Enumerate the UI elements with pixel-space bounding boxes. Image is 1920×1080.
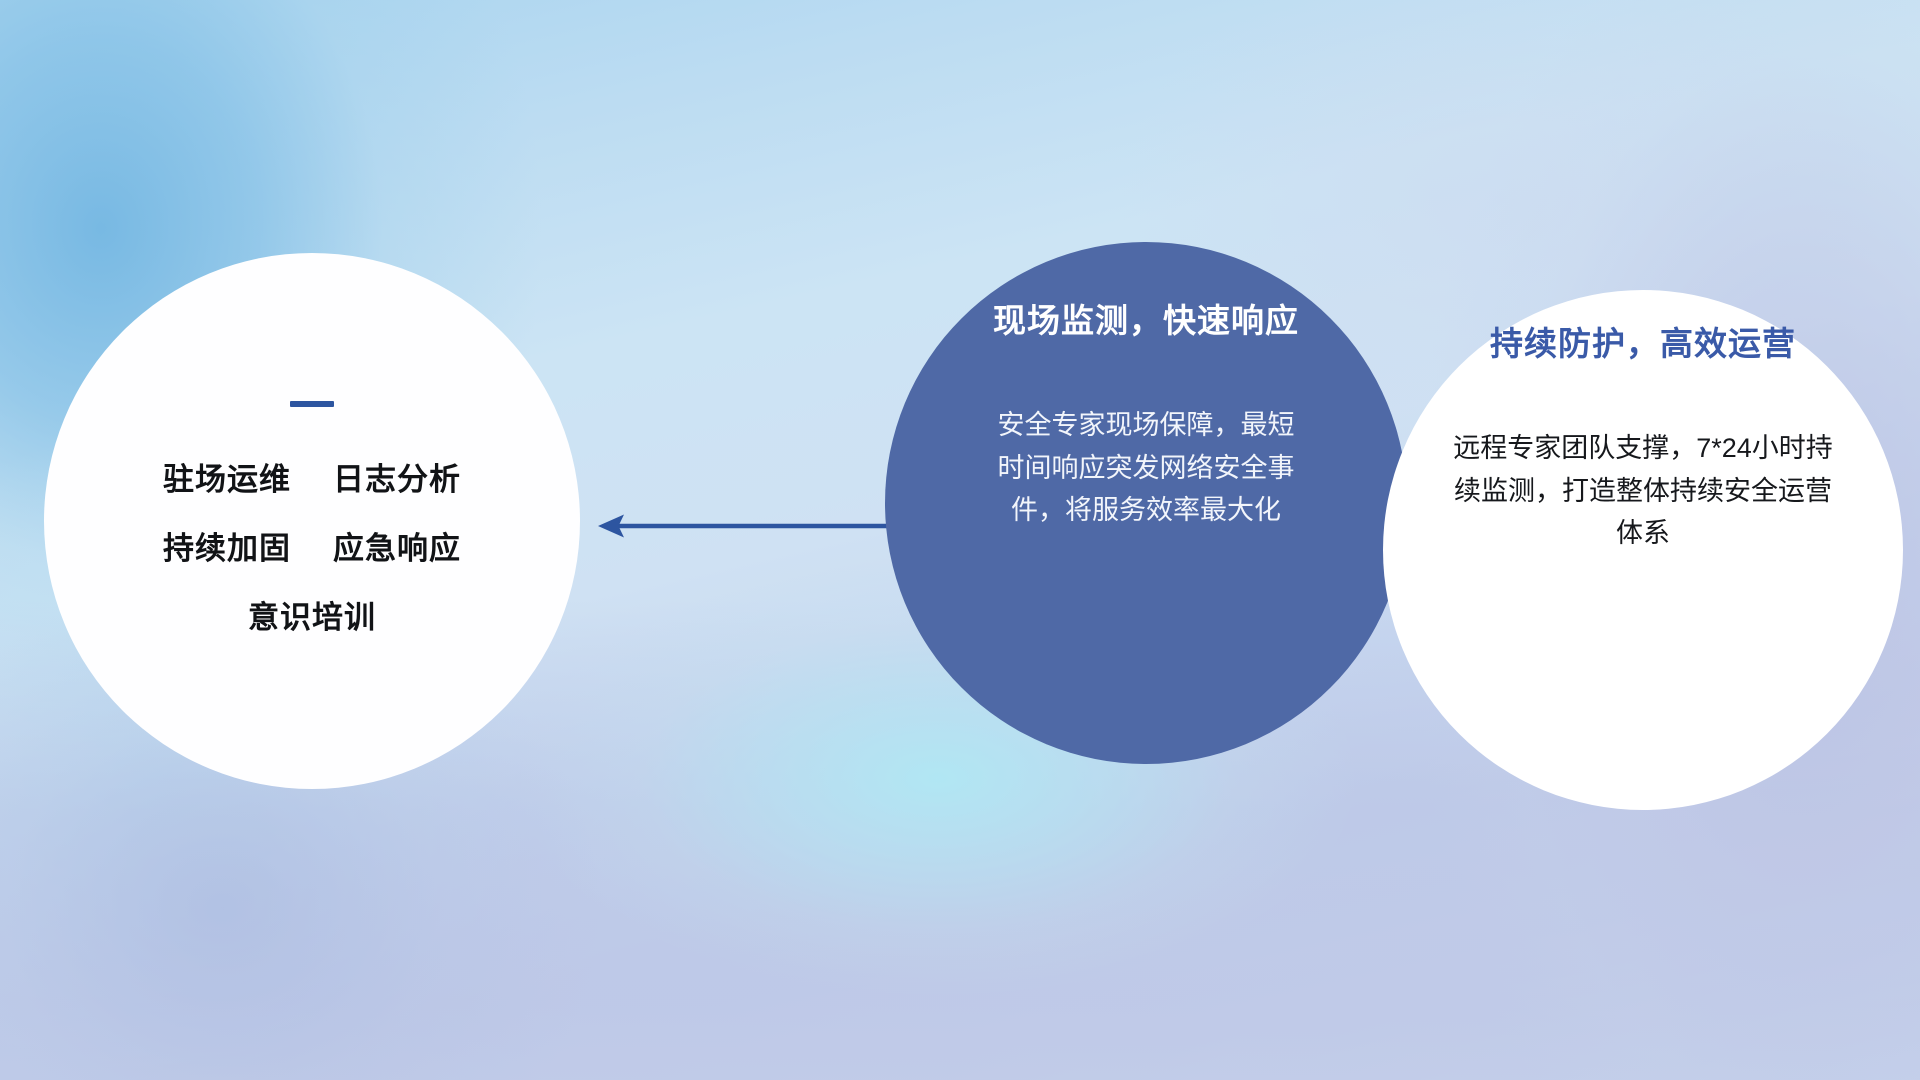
infographic-stage: 驻场运维 日志分析 持续加固 应急响应 意识培训 现场监测，快速响应 安全专家现… (0, 0, 1920, 1080)
capability-row-1: 驻场运维 日志分析 (163, 464, 461, 495)
spacer (291, 533, 333, 564)
mid-onsite-circle: 现场监测，快速响应 安全专家现场保障，最短时间响应突发网络安全事件，将服务效率最… (885, 242, 1407, 764)
spacer (291, 464, 333, 495)
capability-tag: 应急响应 (333, 533, 461, 564)
capability-tag: 驻场运维 (163, 464, 291, 495)
right-circle-body: 远程专家团队支撑，7*24小时持续监测，打造整体持续安全运营体系 (1448, 427, 1838, 555)
capability-row-3: 意识培训 (248, 602, 376, 633)
mid-circle-body: 安全专家现场保障，最短时间响应突发网络安全事件，将服务效率最大化 (986, 404, 1306, 532)
left-capability-circle: 驻场运维 日志分析 持续加固 应急响应 意识培训 (44, 253, 580, 789)
flow-arrow-left (596, 512, 896, 540)
divider-rule (290, 401, 334, 407)
capability-tag: 意识培训 (248, 602, 376, 633)
mid-circle-content: 现场监测，快速响应 安全专家现场保障，最短时间响应突发网络安全事件，将服务效率最… (885, 242, 1407, 764)
right-circle-content: 持续防护，高效运营 远程专家团队支撑，7*24小时持续监测，打造整体持续安全运营… (1383, 290, 1903, 810)
capability-row-2: 持续加固 应急响应 (163, 533, 461, 564)
right-operations-circle: 持续防护，高效运营 远程专家团队支撑，7*24小时持续监测，打造整体持续安全运营… (1383, 290, 1903, 810)
right-circle-title: 持续防护，高效运营 (1490, 317, 1796, 365)
left-circle-content: 驻场运维 日志分析 持续加固 应急响应 意识培训 (44, 253, 580, 789)
mid-circle-title: 现场监测，快速响应 (993, 294, 1299, 342)
capability-tag: 持续加固 (163, 533, 291, 564)
capability-tag: 日志分析 (333, 464, 461, 495)
